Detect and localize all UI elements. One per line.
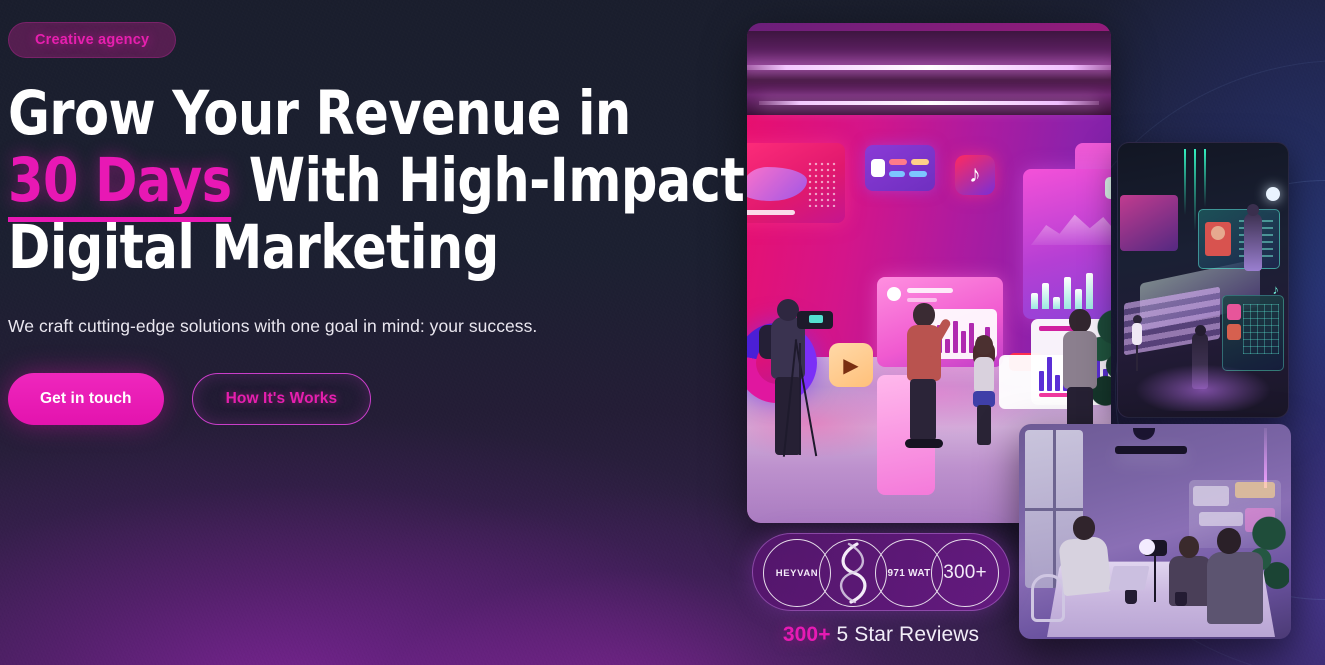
- assistant-figure: [965, 335, 1005, 451]
- ceiling-light-strip: [747, 65, 1111, 70]
- presenter-figure-iso: [1244, 213, 1262, 271]
- tag-chip: [909, 171, 927, 177]
- logo-wat-label: 971 WAT: [887, 568, 930, 579]
- left-screen-panel: [1120, 195, 1178, 251]
- text-line: [907, 288, 953, 293]
- media-tile: [1227, 304, 1241, 320]
- headline-line-1: Grow Your Revenue in: [8, 78, 631, 149]
- review-count-number: 300+: [783, 623, 831, 646]
- coffee-cup: [1125, 590, 1137, 604]
- ceiling-light-strip-secondary: [759, 101, 1099, 105]
- neon-line: [1194, 149, 1196, 231]
- neon-line: [1204, 149, 1206, 207]
- logo-circle-count: 300+: [931, 539, 999, 607]
- review-badge: HEYVAN 971 WAT 300+ 300+ 5 Star Reviews: [752, 533, 1014, 647]
- tiktok-icon: ♪: [955, 155, 995, 195]
- music-note-icon: ♪: [1273, 282, 1280, 297]
- wave-graphic: [747, 167, 807, 201]
- coffee-cup: [1175, 592, 1187, 606]
- chart-card-right: [1023, 169, 1111, 319]
- dot-grid-graphic: [807, 161, 837, 207]
- participant-thumbnail: [1205, 222, 1231, 256]
- avatar-small: [887, 287, 901, 301]
- tag-chip: [889, 171, 905, 177]
- review-count-label: 5 Star Reviews: [837, 623, 980, 646]
- floor-glow: [1128, 341, 1278, 411]
- client-logo-strip: HEYVAN 971 WAT 300+: [752, 533, 1010, 611]
- headline-line-3: Digital Marketing: [8, 212, 499, 283]
- text-line: [907, 298, 937, 302]
- cta-button-row: Get in touch How It's Works: [8, 373, 745, 425]
- ceiling-lamp: [1133, 428, 1155, 440]
- logo-count-label: 300+: [943, 562, 987, 584]
- hero-section: ♪: [0, 0, 1325, 665]
- checkbox-widget: [1105, 177, 1111, 199]
- worker-figure-left: [1059, 516, 1121, 612]
- media-tile: [1227, 324, 1241, 340]
- hanging-light: [1264, 428, 1267, 488]
- tag-chip: [889, 159, 907, 165]
- office-team-image: [1019, 424, 1291, 639]
- headline-line-2: With High-Impact: [232, 145, 745, 216]
- isometric-illustration-image: ♪: [1117, 142, 1289, 418]
- worker-figure-right: [1207, 528, 1269, 636]
- presenter-figure: [899, 303, 955, 451]
- hero-subtitle: We craft cutting-edge solutions with one…: [8, 316, 745, 337]
- mountain-chart-graphic: [1031, 205, 1111, 245]
- get-in-touch-button[interactable]: Get in touch: [8, 373, 164, 425]
- light-bulb-icon: [1266, 187, 1280, 201]
- hero-content-column: Creative agency Grow Your Revenue in 30 …: [0, 0, 745, 665]
- progress-bar-graphic: [747, 210, 795, 215]
- review-count-text: 300+ 5 Star Reviews: [752, 623, 1010, 647]
- ring-light-tripod: [1143, 540, 1169, 604]
- eyebrow-badge: Creative agency: [8, 22, 176, 58]
- neon-line: [1184, 149, 1186, 215]
- logo-heyvan-label: HEYVAN: [776, 568, 819, 579]
- video-call-screen: [1198, 209, 1280, 269]
- analytics-card: [747, 143, 845, 223]
- profile-card: [865, 145, 935, 191]
- eyebrow-label: Creative agency: [35, 32, 149, 48]
- infinity-knot-logo-icon: [827, 540, 881, 606]
- studio-ceiling: [747, 31, 1111, 115]
- headline-accent: 30 Days: [8, 145, 232, 222]
- avatar: [871, 159, 885, 177]
- bar-chart-graphic: [1031, 269, 1093, 309]
- ceiling-light-bar: [1115, 446, 1187, 454]
- videographer-figure: [753, 299, 845, 479]
- page-title: Grow Your Revenue in 30 Days With High-I…: [8, 80, 693, 281]
- how-it-works-button[interactable]: How It's Works: [192, 373, 372, 425]
- tag-chip: [911, 159, 929, 165]
